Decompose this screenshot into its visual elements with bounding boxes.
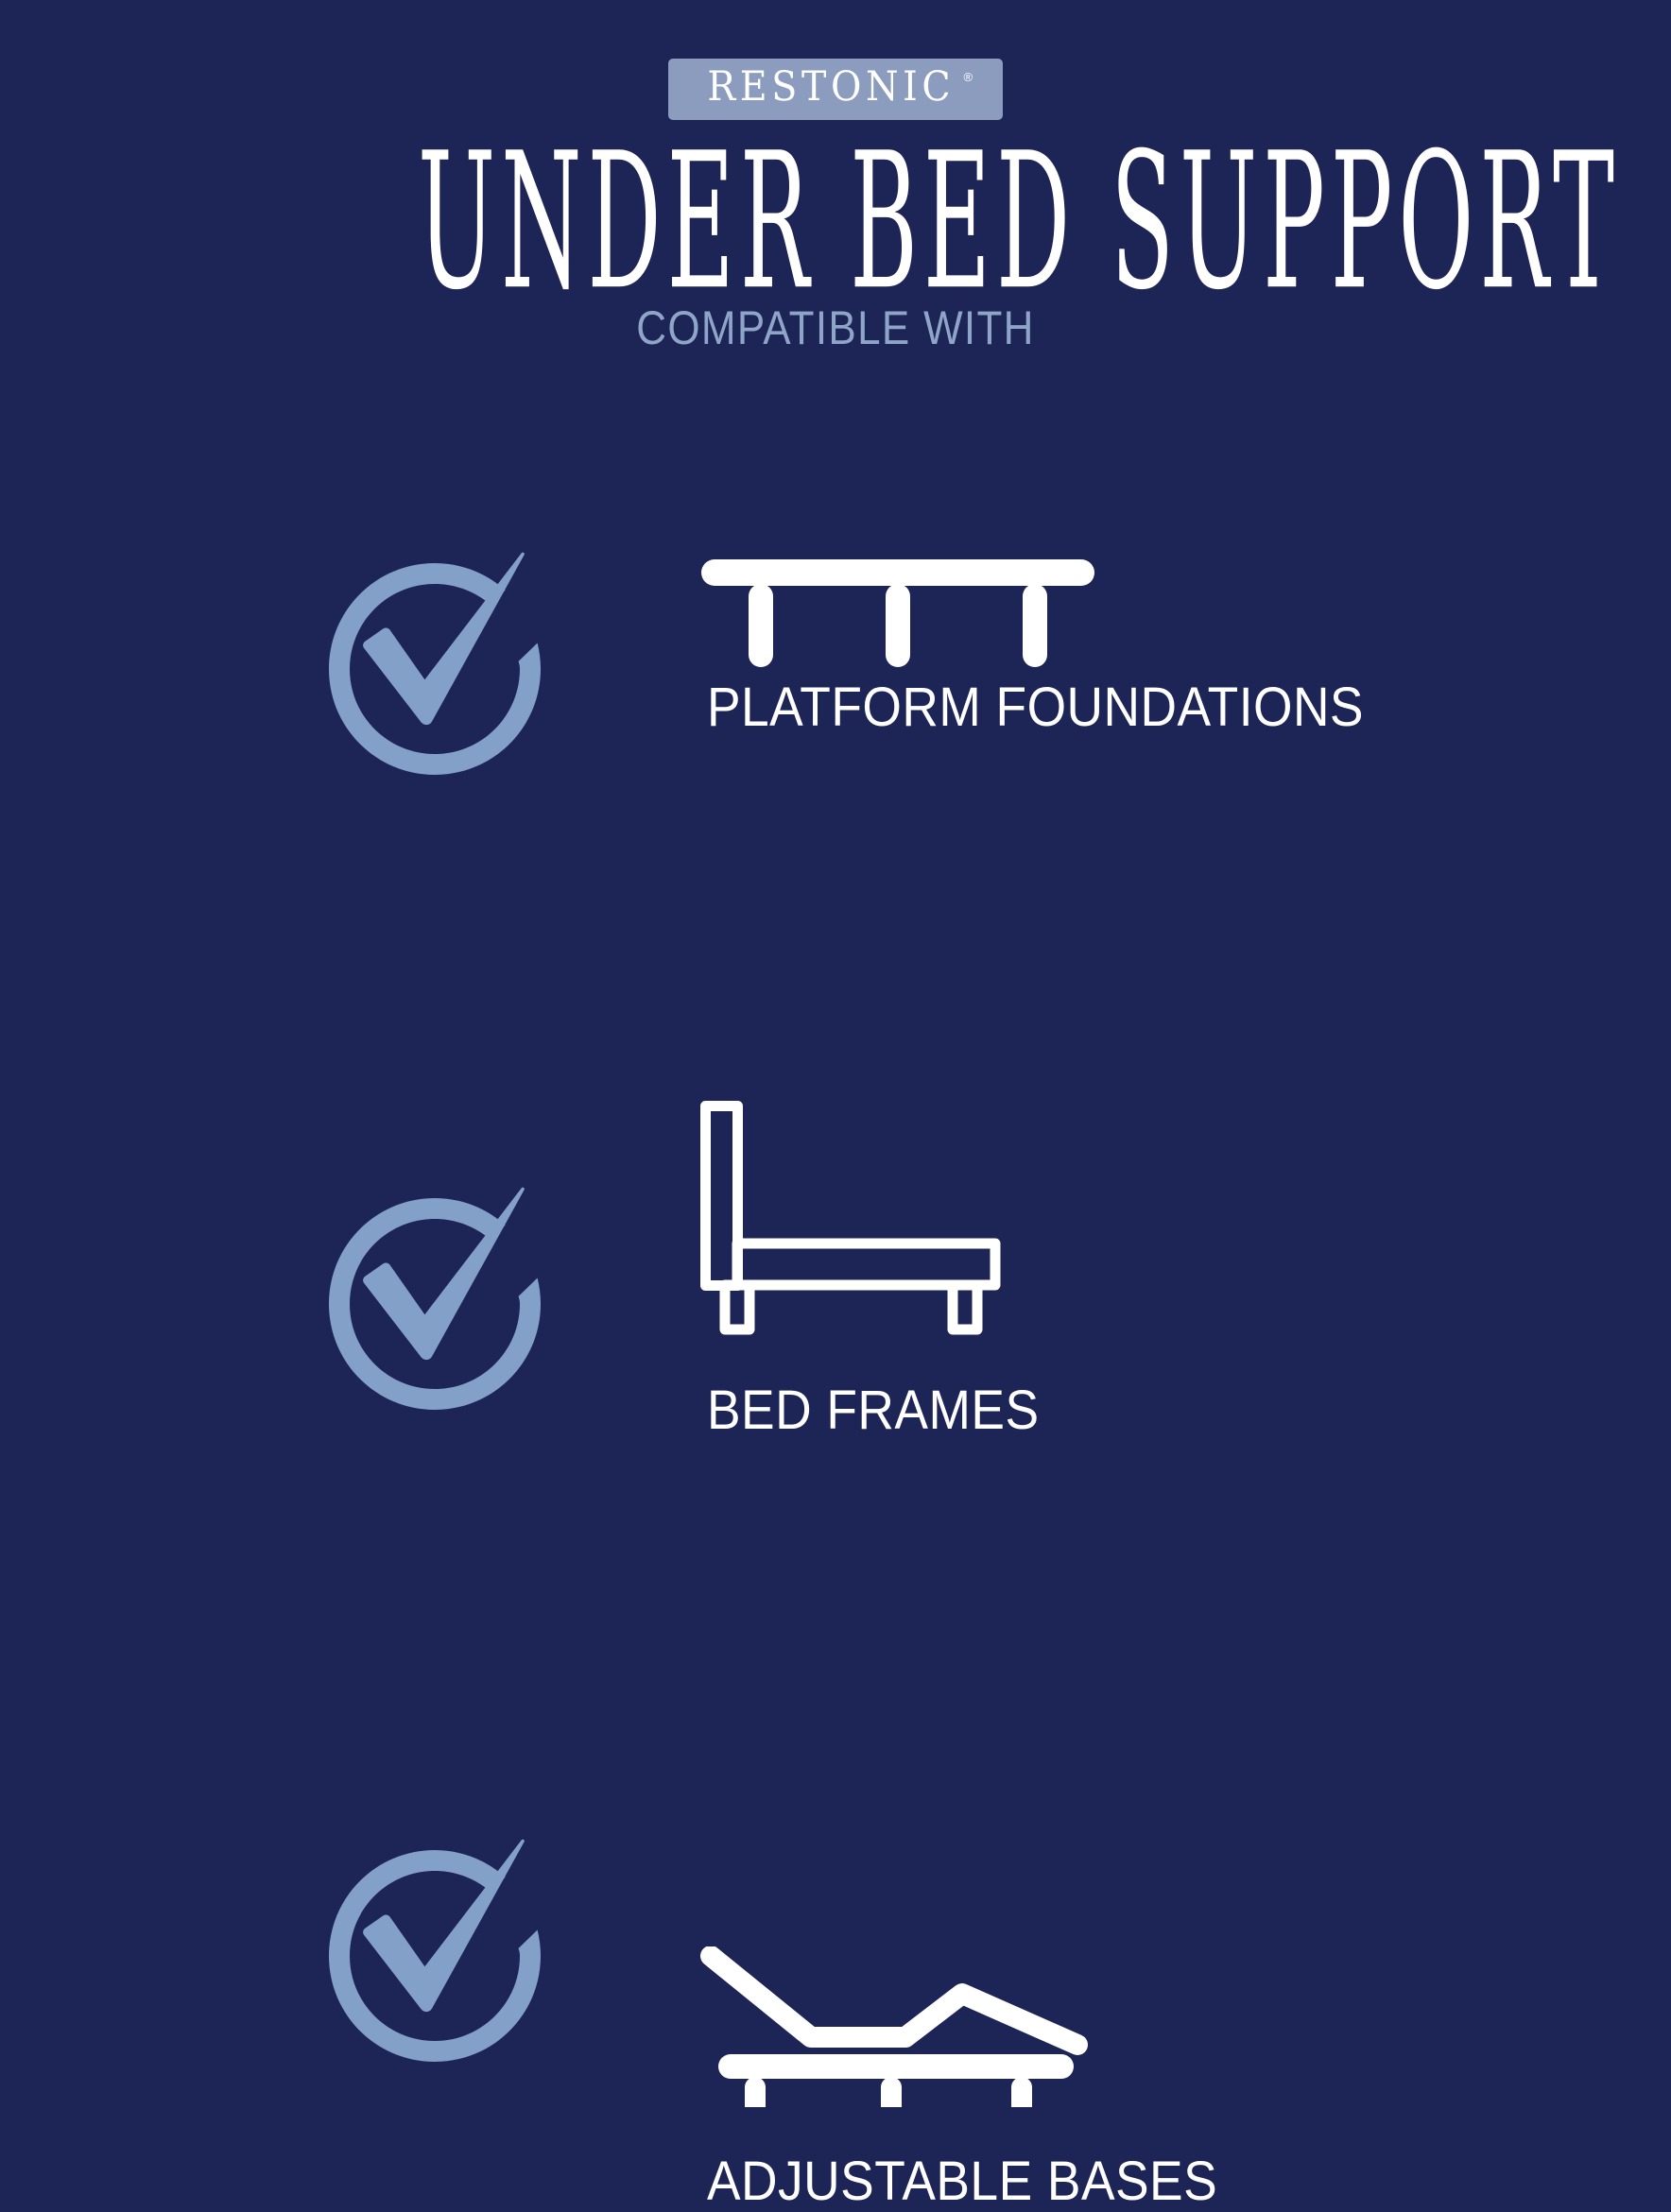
feature-label-platform-foundations: PLATFORM FOUNDATIONS <box>707 680 1364 735</box>
feature-row-adjustable-bases: ADJUSTABLE BASES <box>0 1436 1671 1890</box>
brand-logo-badge: RESTONIC® <box>668 59 1003 120</box>
trademark-symbol: ® <box>964 70 973 84</box>
feature-label-adjustable-bases: ADJUSTABLE BASES <box>707 2154 1217 2209</box>
feature-list: PLATFORM FOUNDATIONS <box>0 529 1671 1890</box>
brand-name: RESTONIC <box>707 67 955 108</box>
check-circle-icon <box>312 546 558 792</box>
page-subtitle: COMPATIBLE WITH <box>100 304 1571 352</box>
check-circle-icon <box>312 1181 558 1427</box>
adjustable-base-icon <box>699 1946 1096 2107</box>
feature-row-platform-foundations: PLATFORM FOUNDATIONS <box>0 529 1671 983</box>
feature-row-bed-frames: BED FRAMES <box>0 983 1671 1436</box>
header: RESTONIC® UNDER BED SUPPORT COMPATIBLE W… <box>0 0 1671 352</box>
page-title: UNDER BED SUPPORT <box>418 128 1253 316</box>
platform-foundation-icon <box>699 557 1096 680</box>
check-circle-icon <box>312 1833 558 2079</box>
feature-label-bed-frames: BED FRAMES <box>707 1383 1039 1438</box>
bed-frame-icon <box>699 1100 1002 1336</box>
